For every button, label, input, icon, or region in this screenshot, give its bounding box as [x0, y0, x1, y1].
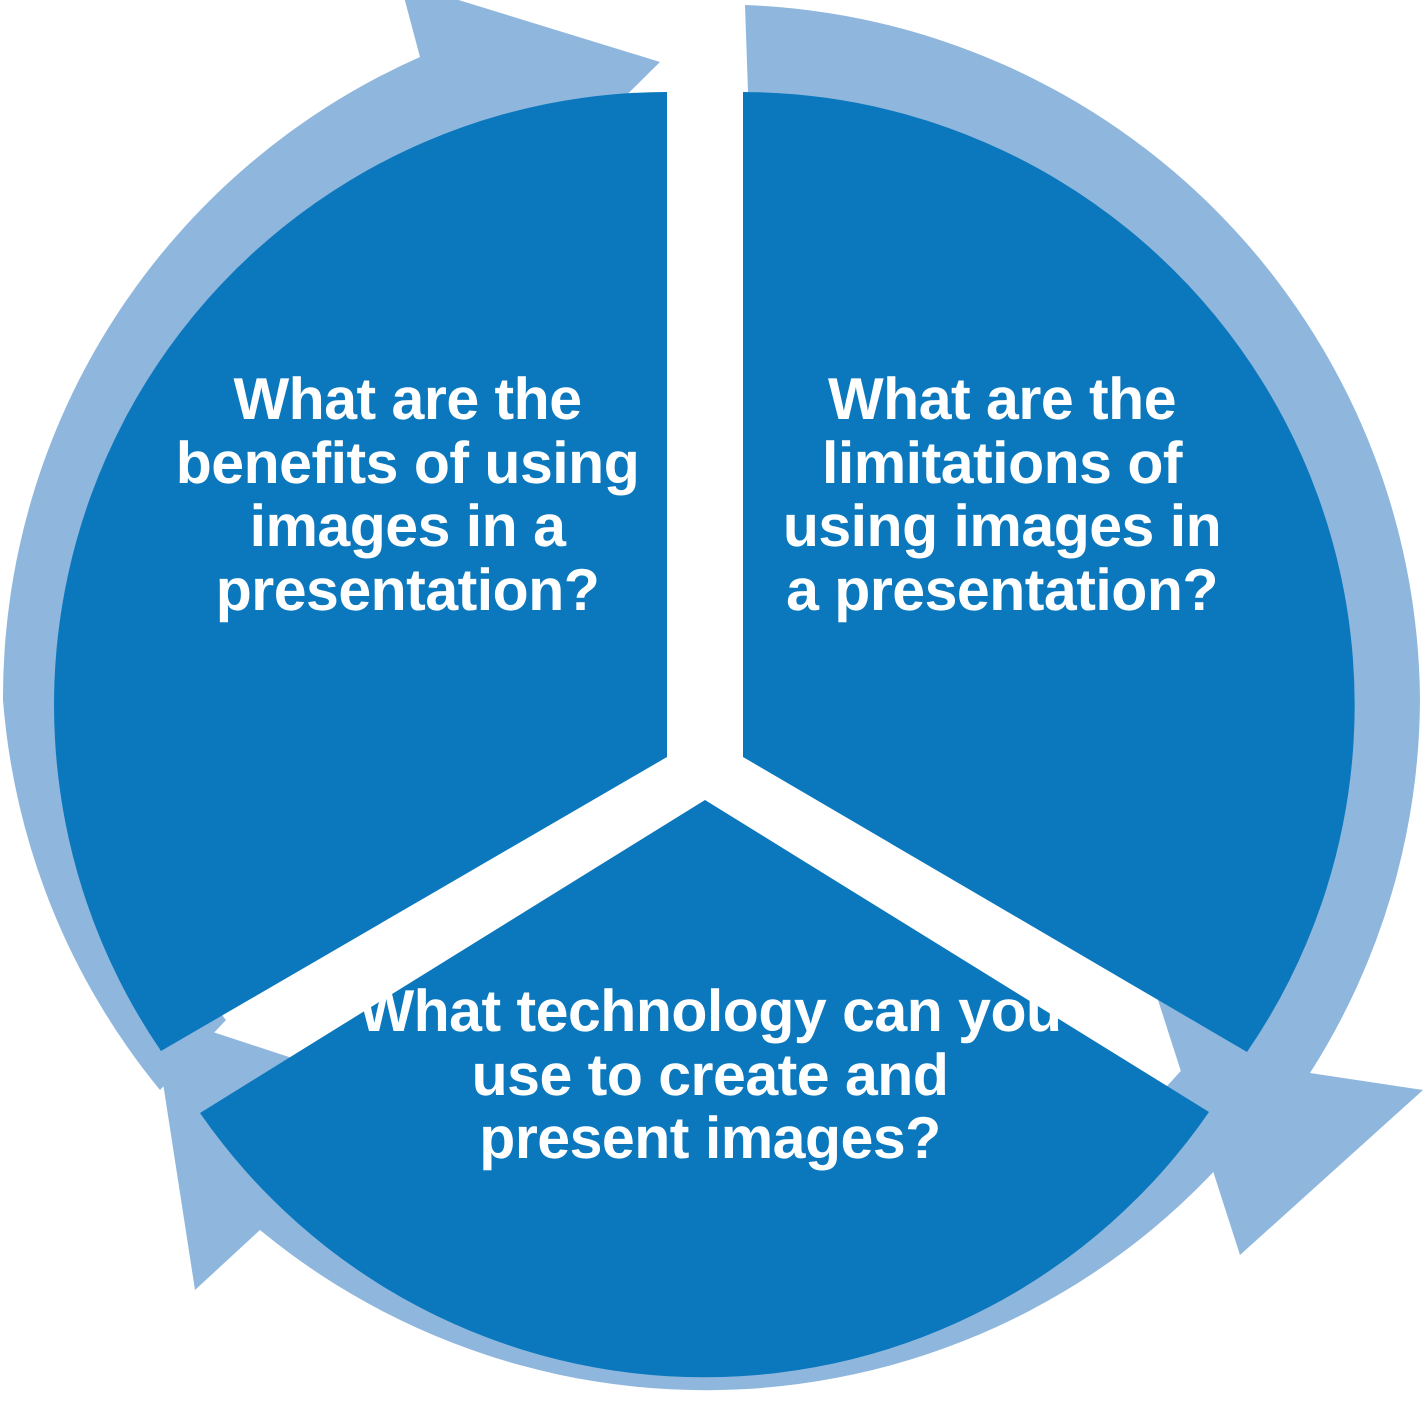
cycle-diagram: What are the benefits of using images in… — [0, 0, 1423, 1416]
cycle-diagram-graphic — [0, 0, 1423, 1416]
